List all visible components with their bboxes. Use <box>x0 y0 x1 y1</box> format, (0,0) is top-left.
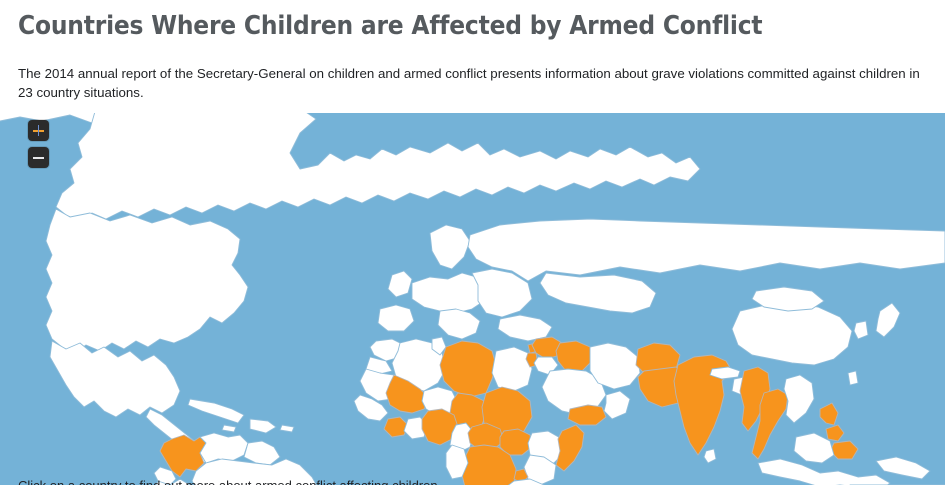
world-map-svg[interactable]: .ld { fill:#ffffff; stroke:#8fbcd9; stro… <box>0 113 945 485</box>
map-caption: Click on a country to find out more abou… <box>18 478 918 485</box>
island-taiwan[interactable] <box>848 371 858 385</box>
zoom-in-button[interactable] <box>28 120 49 141</box>
page-title: Countries Where Children are Affected by… <box>18 10 927 42</box>
zoom-out-button[interactable] <box>28 147 49 168</box>
minus-icon <box>33 152 44 163</box>
page-root: Countries Where Children are Affected by… <box>0 0 945 485</box>
country-yemen[interactable] <box>568 405 606 425</box>
page-header: Countries Where Children are Affected by… <box>0 0 945 113</box>
country-uk-ireland[interactable] <box>388 271 412 297</box>
country-egypt[interactable] <box>492 347 532 391</box>
page-description: The 2014 annual report of the Secretary-… <box>18 64 923 102</box>
plus-icon <box>33 125 44 136</box>
world-map[interactable]: .ld { fill:#ffffff; stroke:#8fbcd9; stro… <box>0 113 945 485</box>
map-zoom-controls[interactable] <box>28 120 49 168</box>
